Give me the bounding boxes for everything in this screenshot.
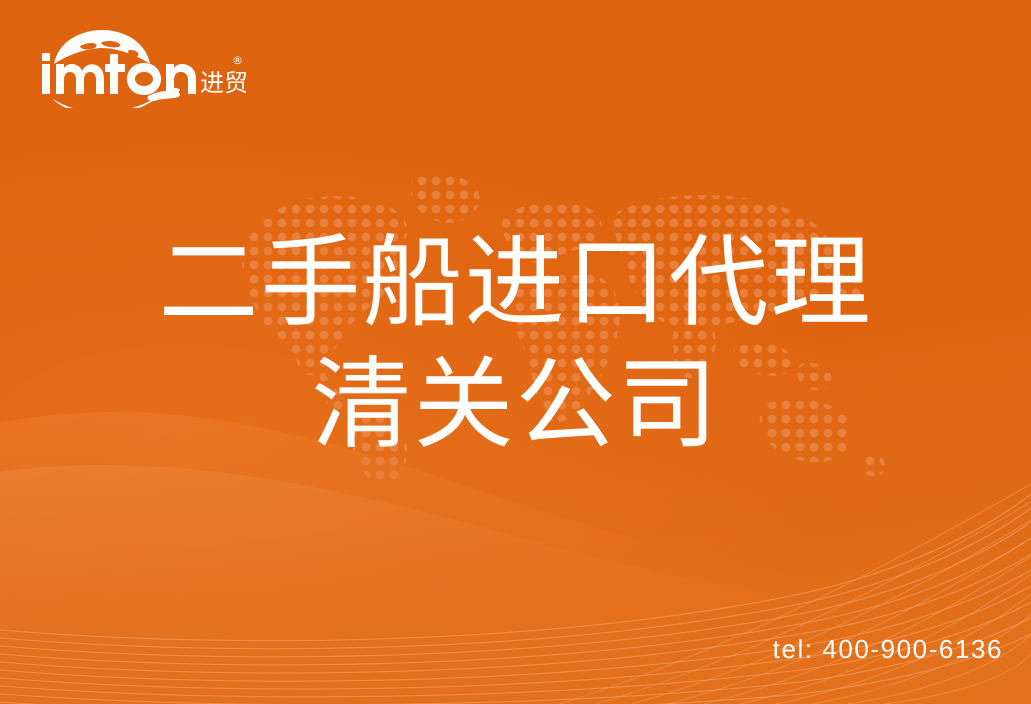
headline-line-1: 二手船进口代理	[0, 222, 1031, 344]
headline: 二手船进口代理 清关公司	[0, 222, 1031, 466]
headline-line-2: 清关公司	[0, 344, 1031, 466]
company-logo[interactable]: 进贸通 ®	[36, 24, 246, 108]
globe-icon	[54, 30, 150, 64]
logo-chinese-name: 进贸通	[200, 69, 246, 97]
trademark-symbol: ®	[232, 54, 243, 67]
promo-banner: 进贸通 ® 二手船进口代理 清关公司 tel: 400-900-6136	[0, 0, 1031, 704]
contact-phone[interactable]: tel: 400-900-6136	[773, 634, 1003, 665]
